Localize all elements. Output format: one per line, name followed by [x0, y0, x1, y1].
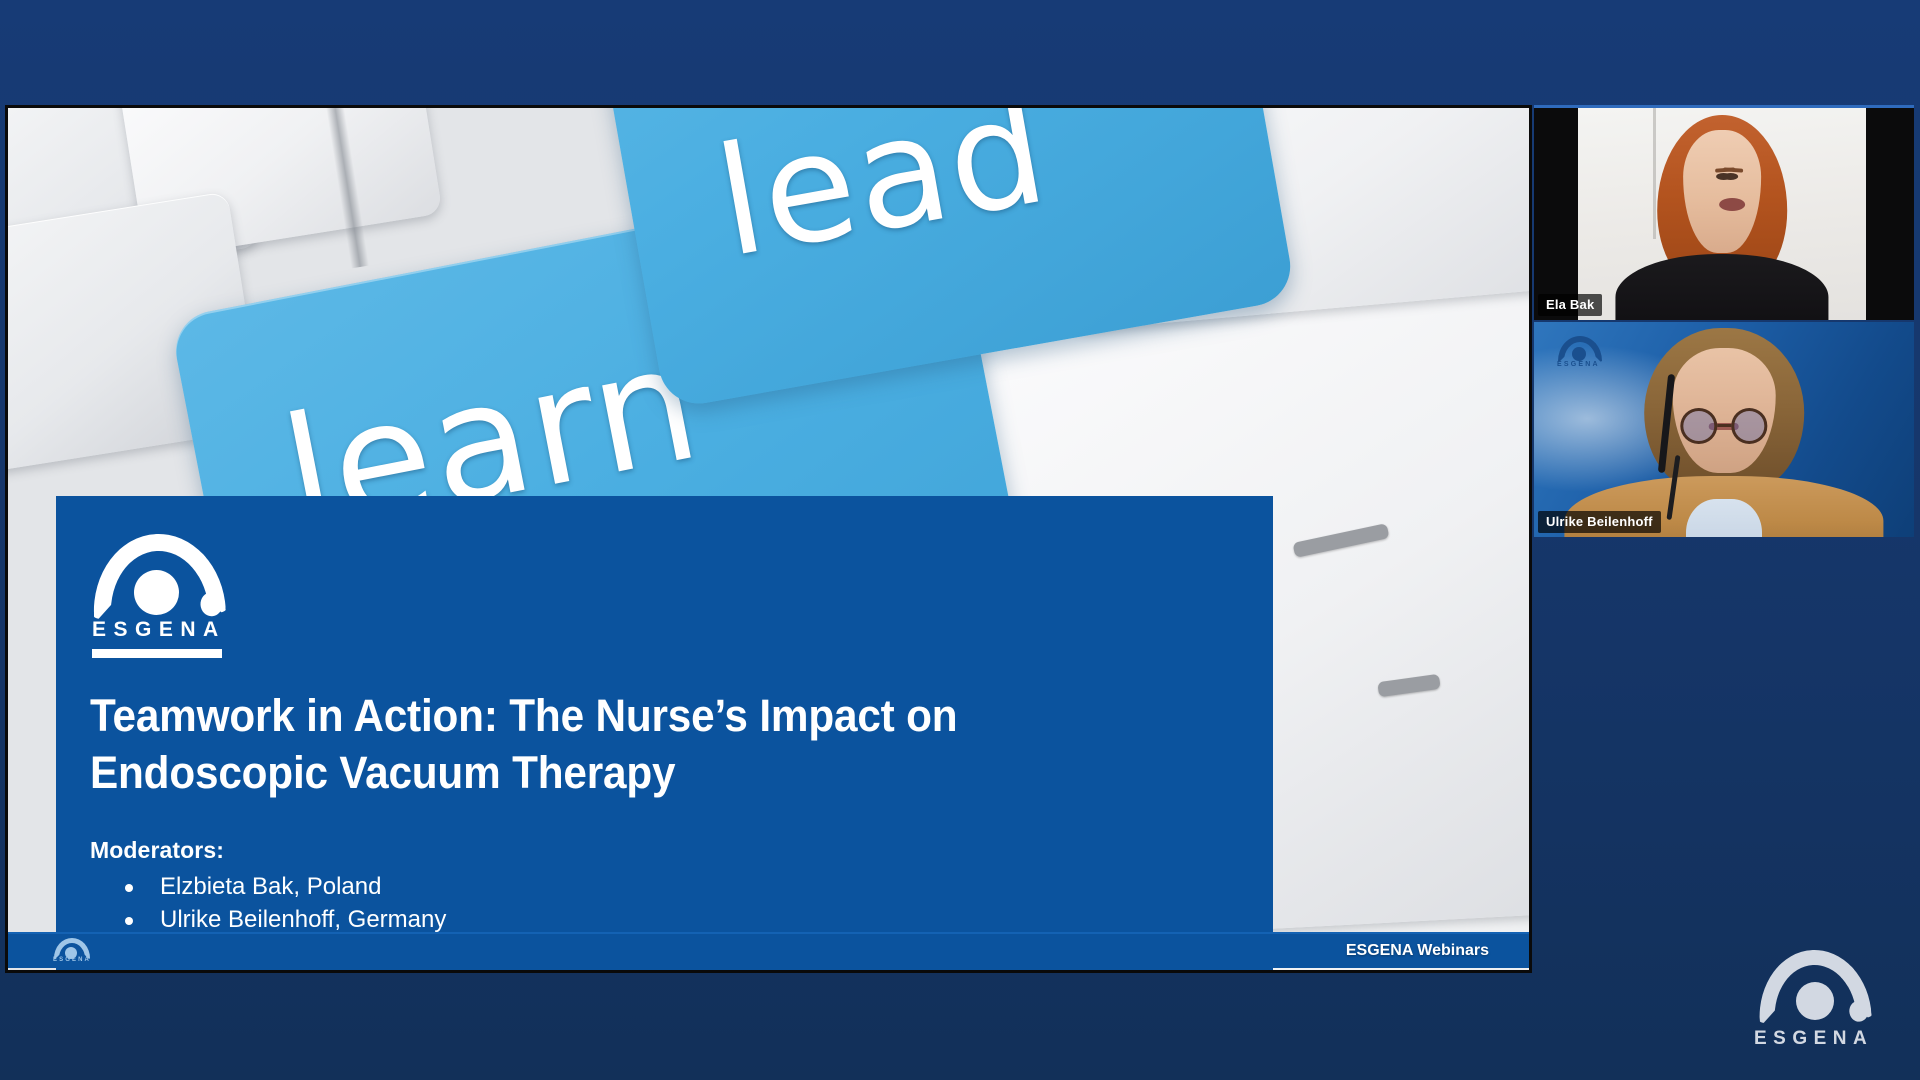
screen-share-stage[interactable]: learn lead ESGENA Teamwork in Action: Th… — [5, 105, 1532, 973]
esgena-footer-logo: ESGENA — [52, 936, 94, 966]
esgena-watermark: ESGENA — [1750, 946, 1878, 1058]
video-frame — [1578, 108, 1866, 320]
slide-footer-label: ESGENA Webinars — [1346, 942, 1489, 960]
presentation-slide: learn lead ESGENA Teamwork in Action: Th… — [8, 108, 1529, 970]
participant-tile-ela-bak[interactable]: Ela Bak — [1534, 105, 1914, 320]
esgena-logo-rule — [92, 649, 222, 658]
esgena-wordmark: ESGENA — [1557, 361, 1600, 368]
slide-content-panel: ESGENA Teamwork in Action: The Nurse’s I… — [56, 496, 1273, 970]
esgena-pupil-icon — [1796, 982, 1834, 1020]
esgena-footer-wordmark: ESGENA — [53, 957, 91, 963]
moderator-name: Elzbieta Bak, Poland — [160, 873, 381, 900]
glasses-lens — [1731, 408, 1768, 444]
list-item: Elzbieta Bak, Poland — [90, 871, 1231, 904]
esgena-watermark-wordmark: ESGENA — [1754, 1028, 1873, 1050]
person-face — [1683, 130, 1761, 253]
participant-video-feed — [1534, 108, 1914, 320]
bullet-icon — [125, 917, 133, 925]
participant-name-badge: Ulrike Beilenhoff — [1538, 511, 1661, 533]
participant-name-badge: Ela Bak — [1538, 294, 1602, 316]
video-conference-window: learn lead ESGENA Teamwork in Action: Th… — [0, 0, 1920, 1080]
esgena-pupil-icon — [1572, 347, 1586, 361]
moderator-name: Ulrike Beilenhoff, Germany — [160, 906, 446, 933]
moderators-heading: Moderators: — [90, 837, 1231, 864]
participant-tile-ulrike-beilenhoff[interactable]: ESGENA Ulrike Beilenhoff — [1534, 322, 1914, 537]
person-eye — [1724, 173, 1739, 180]
esgena-logo: ESGENA — [90, 530, 226, 650]
person-mouth — [1719, 198, 1745, 211]
person-torso — [1615, 254, 1828, 320]
bullet-icon — [125, 884, 133, 892]
moderators-list: Elzbieta Bak, Poland Ulrike Beilenhoff, … — [90, 871, 1231, 936]
esgena-wordmark: ESGENA — [92, 618, 226, 642]
person-glasses — [1680, 408, 1767, 444]
esgena-pupil-icon — [134, 570, 179, 615]
background-wall-seam — [1653, 108, 1656, 239]
person-eyebrow — [1723, 167, 1743, 172]
slide-footer: ESGENA ESGENA Webinars — [8, 932, 1529, 968]
glasses-bridge — [1717, 424, 1731, 427]
slide-title: Teamwork in Action: The Nurse’s Impact o… — [90, 688, 1086, 801]
participant-video-feed: ESGENA — [1534, 322, 1914, 537]
esgena-virtual-background-logo: ESGENA — [1556, 334, 1606, 372]
glasses-lens — [1680, 408, 1717, 444]
